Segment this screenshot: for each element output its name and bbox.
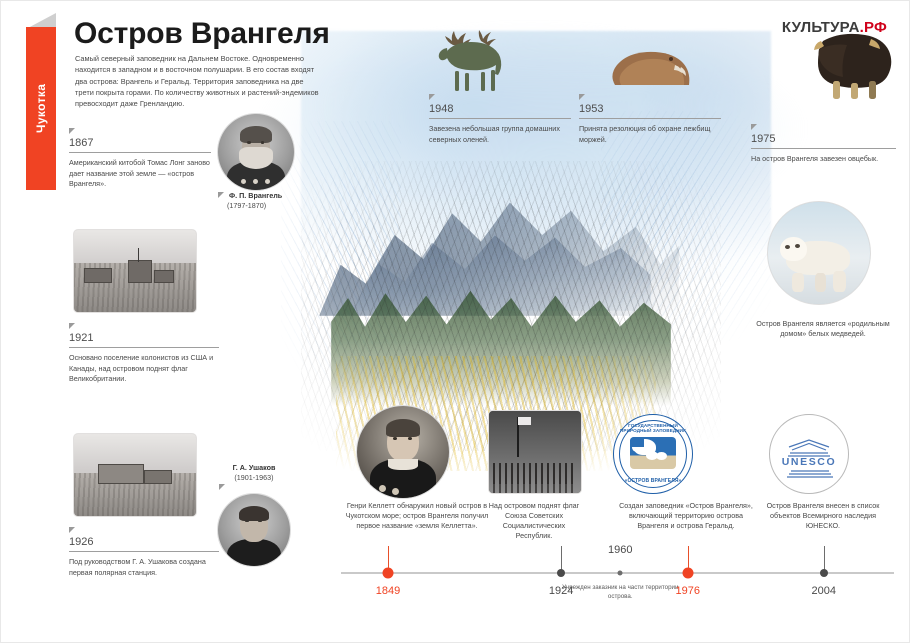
timeline-year-label: 1849 [376, 585, 400, 597]
portrait-kellett [356, 405, 450, 499]
marker-triangle-icon [218, 192, 224, 198]
event-year: 1948 [429, 103, 571, 119]
marker-triangle-icon [219, 484, 225, 490]
unesco-base-icon [787, 469, 833, 481]
caption-reserve: Создан заповедник «Остров Врангеля», вкл… [616, 501, 756, 531]
page-title: Остров Врангеля [74, 17, 330, 51]
event-description: Принята резолюция об охране лежбищ морже… [579, 124, 721, 145]
timeline-year-label: 2004 [812, 585, 836, 597]
marker-triangle-icon [69, 527, 75, 533]
infographic-page: Чукотка Остров Врангеля Самый северный з… [0, 0, 910, 643]
page-intro: Самый северный заповедник на Дальнем Вос… [75, 53, 323, 109]
caption-unesco: Остров Врангеля внесен в список объектов… [753, 501, 893, 531]
portrait-years: (1797-1870) [227, 201, 266, 211]
event-year: 1926 [69, 536, 219, 552]
timeline-point[interactable] [557, 569, 565, 577]
event-1948: 1948 Завезена небольшая группа домашних … [429, 94, 571, 145]
event-description: Завезена небольшая группа домашних север… [429, 124, 571, 145]
reserve-emblem-scene [630, 437, 676, 469]
unesco-temple-icon [786, 439, 832, 457]
musk-ox-illustration [801, 19, 899, 101]
timeline-year-label: 1960 [608, 544, 632, 556]
event-1975: 1975 На остров Врангеля завезен овцебык. [751, 124, 896, 165]
event-description: На остров Врангеля завезен овцебык. [751, 154, 896, 165]
timeline-note: Учрежден заказник на части территории ос… [560, 584, 680, 601]
reserve-emblem-bottom-text: «ОСТРОВ ВРАНГЕЛЯ» [614, 478, 692, 484]
marker-triangle-icon [69, 323, 75, 329]
marker-triangle-icon [579, 94, 585, 100]
marker-triangle-icon [69, 128, 75, 134]
caption-flag: Над островом поднят флаг Союза Советских… [486, 501, 582, 541]
event-1921: 1921 Основано поселение колонистов из СШ… [69, 323, 219, 385]
portrait-years: (1901-1963) [234, 473, 273, 482]
caption-polar-bear: Остров Врангеля является «родильным домо… [753, 319, 893, 339]
walrus-illustration [601, 41, 693, 93]
event-description: Основано поселение колонистов из США и К… [69, 353, 219, 385]
event-year: 1921 [69, 332, 219, 348]
event-year: 1867 [69, 137, 211, 153]
event-1953: 1953 Принята резолюция об охране лежбищ … [579, 94, 721, 145]
unesco-wordmark: UNESCO [770, 456, 848, 468]
timeline-point[interactable] [682, 568, 693, 579]
portrait-name: Г. А. Ушаков [233, 463, 276, 472]
event-description: Под руководством Г. А. Ушакова создана п… [69, 557, 219, 578]
marker-triangle-icon [429, 94, 435, 100]
portrait-caption-vrangel: Ф. П. Врангель (1797-1870) [218, 191, 308, 211]
event-1926: 1926 Под руководством Г. А. Ушакова созд… [69, 527, 219, 578]
timeline-year-label: 1976 [675, 585, 699, 597]
unesco-emblem-icon: UNESCO [769, 414, 849, 494]
portrait-ushakov [217, 493, 291, 567]
portrait-vrangel [217, 113, 295, 191]
photo-flag-raising [488, 410, 582, 494]
portrait-name: Ф. П. Врангель [229, 191, 282, 200]
reserve-emblem-icon: ГОСУДАРСТВЕННЫЙ ПРИРОДНЫЙ ЗАПОВЕДНИК «ОС… [613, 414, 693, 494]
photo-polar-bear [767, 201, 871, 305]
timeline-point[interactable] [383, 568, 394, 579]
timeline-point[interactable] [820, 569, 828, 577]
reserve-emblem-top-text: ГОСУДАРСТВЕННЫЙ ПРИРОДНЫЙ ЗАПОВЕДНИК [614, 423, 692, 433]
event-1867: 1867 Американский китобой Томас Лонг зан… [69, 128, 211, 190]
event-year: 1953 [579, 103, 721, 119]
marker-triangle-icon [751, 124, 757, 130]
photo-colonist-settlement [73, 229, 197, 313]
photo-polar-station [73, 433, 197, 517]
portrait-caption-ushakov: Г. А. Ушаков (1901-1963) [206, 463, 302, 483]
reindeer-illustration [419, 15, 519, 93]
event-description: Американский китобой Томас Лонг заново д… [69, 158, 211, 190]
event-year: 1975 [751, 133, 896, 149]
caption-kellett: Генри Келлетт обнаружил новый остров в Ч… [341, 501, 493, 531]
region-ribbon-label: Чукотка [26, 27, 56, 190]
timeline-point[interactable] [618, 571, 623, 576]
